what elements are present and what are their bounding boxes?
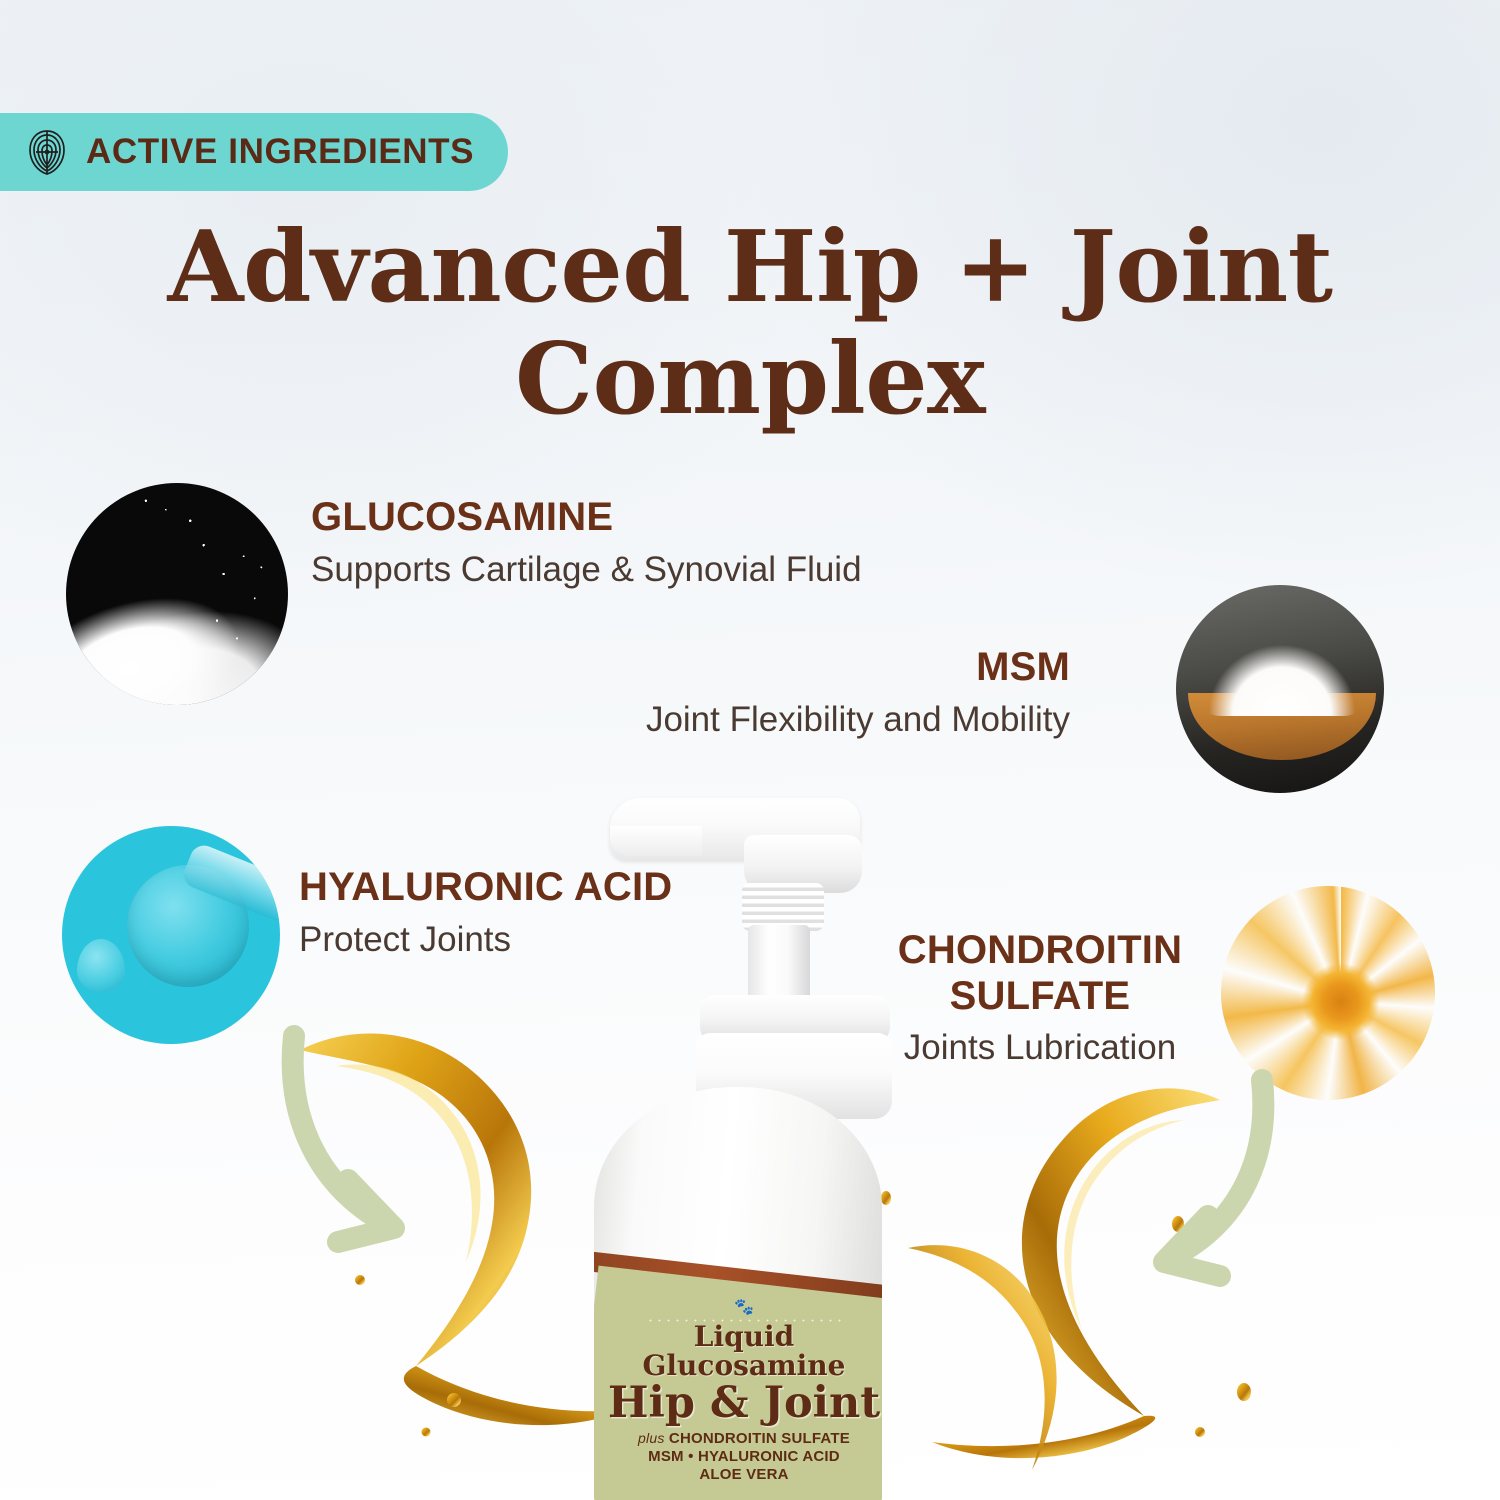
- bottle-body: 🐾 Liquid Glucosamine Hip & Joint plus CH…: [594, 1087, 882, 1500]
- powder-mound: [1201, 622, 1363, 716]
- label-sub-line-1: CHONDROITIN SULFATE: [669, 1430, 850, 1447]
- label-liquid: Liquid: [594, 1323, 882, 1352]
- label-glucosamine: Glucosamine: [594, 1352, 882, 1381]
- arrow-to-bottle-right: [1090, 1050, 1280, 1295]
- glucosamine-description: Supports Cartilage & Synovial Fluid: [311, 547, 862, 593]
- glucosamine-text-block: GLUCOSAMINE Supports Cartilage & Synovia…: [311, 495, 862, 592]
- label-plus: plus: [638, 1430, 664, 1446]
- paw-print-icon: 🐾: [594, 1300, 882, 1316]
- title-line-2: Complex: [0, 324, 1500, 436]
- glucosamine-image: [66, 483, 288, 705]
- arrow-to-bottle-left: [276, 1004, 466, 1264]
- msm-name: MSM: [646, 645, 1070, 691]
- cartilage-joint-icon: [26, 128, 68, 176]
- page-title: Advanced Hip + Joint Complex: [0, 212, 1500, 435]
- glucosamine-name: GLUCOSAMINE: [311, 495, 862, 541]
- label-sub-line-3: ALOE VERA: [594, 1466, 882, 1484]
- label-subtext: plus CHONDROITIN SULFATE MSM • HYALURONI…: [594, 1430, 882, 1484]
- label-hip-and-joint: Hip & Joint: [594, 1381, 882, 1426]
- powder-grains: [66, 483, 288, 705]
- ingredients-infographic: ACTIVE INGREDIENTS Advanced Hip + Joint …: [0, 0, 1500, 1500]
- product-label: 🐾 Liquid Glucosamine Hip & Joint plus CH…: [594, 1266, 882, 1500]
- product-bottle: 🐾 Liquid Glucosamine Hip & Joint plus CH…: [588, 795, 888, 1500]
- active-ingredients-badge: ACTIVE INGREDIENTS: [0, 113, 508, 191]
- msm-description: Joint Flexibility and Mobility: [646, 697, 1070, 743]
- msm-text-block: MSM Joint Flexibility and Mobility: [646, 645, 1070, 742]
- gel-droplet: [77, 939, 125, 991]
- pump-thread: [742, 883, 824, 931]
- label-sub-line-2: MSM • HYALURONIC ACID: [594, 1448, 882, 1466]
- badge-label: ACTIVE INGREDIENTS: [86, 132, 474, 172]
- msm-image: [1176, 585, 1384, 793]
- label-content: 🐾 Liquid Glucosamine Hip & Joint plus CH…: [594, 1283, 882, 1500]
- chondroitin-name-line-1: CHONDROITIN: [865, 928, 1215, 974]
- title-line-1: Advanced Hip + Joint: [0, 212, 1500, 324]
